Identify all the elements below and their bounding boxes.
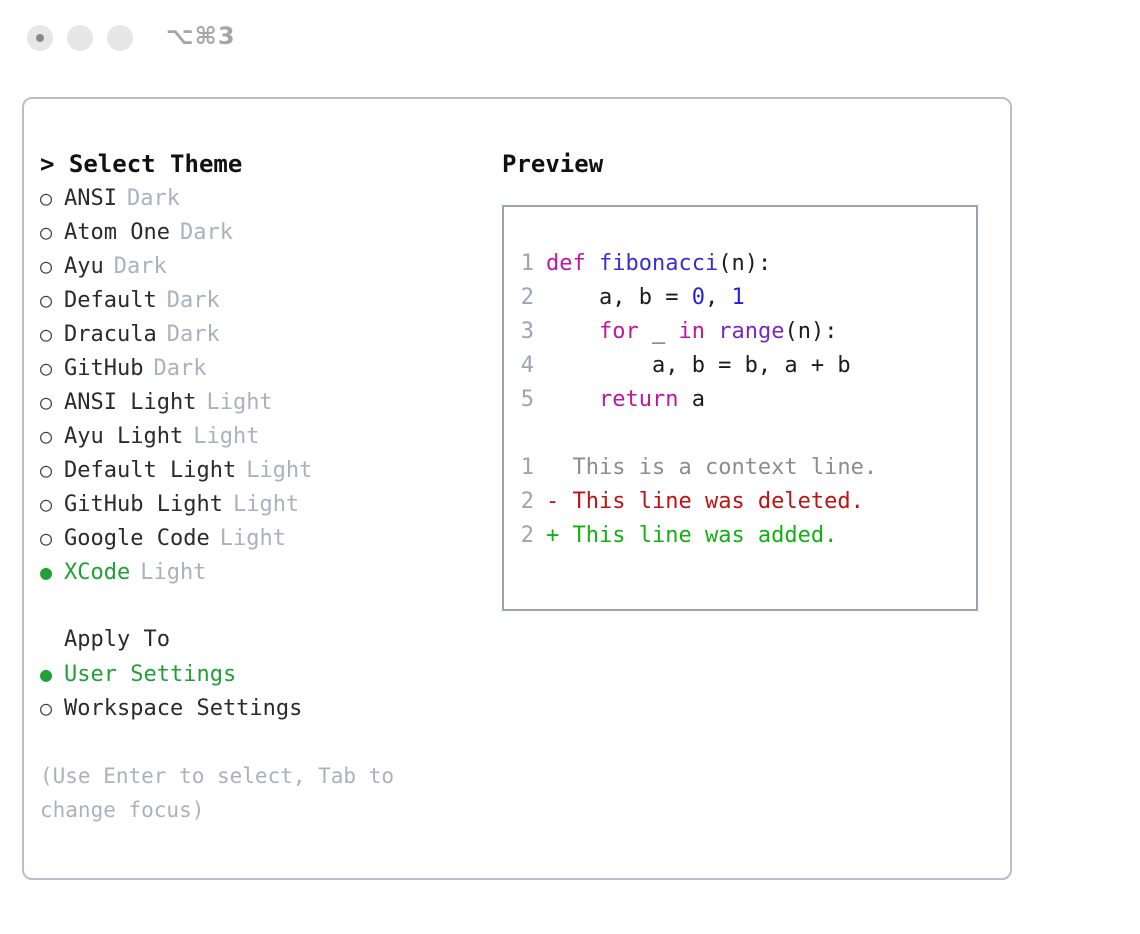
theme-variant-badge: Dark xyxy=(127,182,180,216)
line-number: 2 xyxy=(504,519,546,553)
diff-text: This line was added. xyxy=(573,519,838,553)
radio-empty-icon: ○ xyxy=(40,317,64,351)
apply-to-header: Apply To xyxy=(40,623,480,657)
theme-selector-column: > Select Theme ○ANSIDark○Atom OneDark○Ay… xyxy=(40,147,480,827)
theme-option[interactable]: ○ANSIDark xyxy=(40,181,480,215)
window-dot-minimize[interactable] xyxy=(67,25,93,51)
radio-empty-icon: ○ xyxy=(40,385,64,419)
title-bar: ⌥⌘3 xyxy=(0,0,1140,78)
theme-name: Atom One xyxy=(64,216,170,250)
main-panel: > Select Theme ○ANSIDark○Atom OneDark○Ay… xyxy=(22,97,1012,880)
theme-option[interactable]: ○Default LightLight xyxy=(40,453,480,487)
theme-name: Ayu Light xyxy=(64,420,183,454)
theme-list[interactable]: ○ANSIDark○Atom OneDark○AyuDark○DefaultDa… xyxy=(40,181,480,589)
theme-variant-badge: Dark xyxy=(114,250,167,284)
theme-variant-badge: Dark xyxy=(180,216,233,250)
radio-empty-icon: ○ xyxy=(40,283,64,317)
theme-name: Default xyxy=(64,284,157,318)
code-token: fibonacci xyxy=(599,251,718,276)
list-spacer xyxy=(40,589,480,623)
diff-text: This line was deleted. xyxy=(573,485,864,519)
code-text: a, b = b, a + b xyxy=(546,349,851,383)
theme-option[interactable]: ○DefaultDark xyxy=(40,283,480,317)
theme-name: ANSI Light xyxy=(64,386,196,420)
theme-name: ANSI xyxy=(64,182,117,216)
preview-box: 1def fibonacci(n):2 a, b = 0, 13 for _ i… xyxy=(502,205,978,611)
diff-text: This is a context line. xyxy=(573,451,878,485)
theme-name: Dracula xyxy=(64,318,157,352)
radio-empty-icon: ○ xyxy=(40,215,64,249)
code-text: a, b = 0, 1 xyxy=(546,281,745,315)
radio-empty-icon: ○ xyxy=(40,691,64,725)
theme-variant-badge: Light xyxy=(206,386,272,420)
radio-empty-icon: ○ xyxy=(40,419,64,453)
code-token: (n): xyxy=(784,319,837,344)
code-token xyxy=(546,319,599,344)
theme-variant-badge: Light xyxy=(193,420,259,454)
theme-option[interactable]: ○AyuDark xyxy=(40,249,480,283)
radio-empty-icon: ○ xyxy=(40,249,64,283)
diff-marker: - xyxy=(546,485,573,519)
code-token xyxy=(705,319,718,344)
window-dot-close[interactable] xyxy=(27,25,53,51)
code-line: 5 return a xyxy=(504,383,976,417)
theme-name: Default Light xyxy=(64,454,236,488)
theme-variant-badge: Dark xyxy=(167,318,220,352)
theme-option[interactable]: ○Atom OneDark xyxy=(40,215,480,249)
diff-line: 2+ This line was added. xyxy=(504,519,976,553)
diff-marker: + xyxy=(546,519,573,553)
theme-name: GitHub xyxy=(64,352,143,386)
code-token: , xyxy=(705,285,732,310)
line-number: 1 xyxy=(504,247,546,281)
preview-column: Preview 1def fibonacci(n):2 a, b = 0, 13… xyxy=(502,147,1002,611)
line-number: 2 xyxy=(504,281,546,315)
code-line: 3 for _ in range(n): xyxy=(504,315,976,349)
code-text: for _ in range(n): xyxy=(546,315,837,349)
line-number: 1 xyxy=(504,451,546,485)
code-line: 4 a, b = b, a + b xyxy=(504,349,976,383)
diff-line: 1 This is a context line. xyxy=(504,451,976,485)
diff-spacer xyxy=(504,417,976,451)
code-token: (n): xyxy=(718,251,771,276)
window-dot-maximize[interactable] xyxy=(107,25,133,51)
diff-sample: 1 This is a context line.2- This line wa… xyxy=(504,451,976,553)
preview-header: Preview xyxy=(502,147,1002,181)
code-token: a, b = b, a + b xyxy=(546,353,851,378)
theme-name: Ayu xyxy=(64,250,104,284)
radio-empty-icon: ○ xyxy=(40,181,64,215)
select-theme-header: > Select Theme xyxy=(40,147,480,181)
keyboard-hint-text: (Use Enter to select, Tab to change focu… xyxy=(40,759,440,827)
code-token: def xyxy=(546,251,599,276)
code-token: a xyxy=(678,387,705,412)
theme-variant-badge: Light xyxy=(233,488,299,522)
theme-name: GitHub Light xyxy=(64,488,223,522)
keyboard-shortcut-label: ⌥⌘3 xyxy=(166,22,236,50)
code-token: for xyxy=(599,319,639,344)
app-window: ⌥⌘3 > Select Theme ○ANSIDark○Atom OneDar… xyxy=(0,0,1140,934)
apply-to-label: User Settings xyxy=(64,658,236,692)
line-number: 3 xyxy=(504,315,546,349)
radio-empty-icon: ○ xyxy=(40,487,64,521)
code-line: 2 a, b = 0, 1 xyxy=(504,281,976,315)
code-token xyxy=(546,387,599,412)
code-token: in xyxy=(678,319,705,344)
theme-option[interactable]: ●XCodeLight xyxy=(40,555,480,589)
theme-option[interactable]: ○ANSI LightLight xyxy=(40,385,480,419)
theme-option[interactable]: ○GitHub LightLight xyxy=(40,487,480,521)
diff-marker xyxy=(546,451,573,485)
code-sample: 1def fibonacci(n):2 a, b = 0, 13 for _ i… xyxy=(504,247,976,417)
theme-variant-badge: Dark xyxy=(153,352,206,386)
code-token: 0 xyxy=(692,285,705,310)
radio-empty-icon: ○ xyxy=(40,521,64,555)
radio-selected-icon: ● xyxy=(40,555,64,589)
radio-selected-icon: ● xyxy=(40,657,64,691)
diff-line: 2- This line was deleted. xyxy=(504,485,976,519)
theme-option[interactable]: ○Ayu LightLight xyxy=(40,419,480,453)
code-token: range xyxy=(718,319,784,344)
line-number: 5 xyxy=(504,383,546,417)
theme-name: XCode xyxy=(64,556,130,590)
apply-to-option[interactable]: ○Workspace Settings xyxy=(40,691,480,725)
theme-variant-badge: Dark xyxy=(167,284,220,318)
theme-variant-badge: Light xyxy=(220,522,286,556)
theme-variant-badge: Light xyxy=(140,556,206,590)
window-controls xyxy=(27,25,133,51)
code-line: 1def fibonacci(n): xyxy=(504,247,976,281)
apply-to-list[interactable]: ●User Settings○Workspace Settings xyxy=(40,657,480,725)
code-token: return xyxy=(599,387,678,412)
line-number: 4 xyxy=(504,349,546,383)
apply-to-label: Workspace Settings xyxy=(64,692,302,726)
code-text: def fibonacci(n): xyxy=(546,247,771,281)
theme-option[interactable]: ○DraculaDark xyxy=(40,317,480,351)
theme-option[interactable]: ○Google CodeLight xyxy=(40,521,480,555)
theme-option[interactable]: ○GitHubDark xyxy=(40,351,480,385)
theme-variant-badge: Light xyxy=(246,454,312,488)
code-token: _ xyxy=(639,319,679,344)
theme-name: Google Code xyxy=(64,522,210,556)
code-token: 1 xyxy=(731,285,744,310)
code-token: a, b = xyxy=(546,285,692,310)
code-text: return a xyxy=(546,383,705,417)
radio-empty-icon: ○ xyxy=(40,351,64,385)
apply-to-option[interactable]: ●User Settings xyxy=(40,657,480,691)
line-number: 2 xyxy=(504,485,546,519)
radio-empty-icon: ○ xyxy=(40,453,64,487)
